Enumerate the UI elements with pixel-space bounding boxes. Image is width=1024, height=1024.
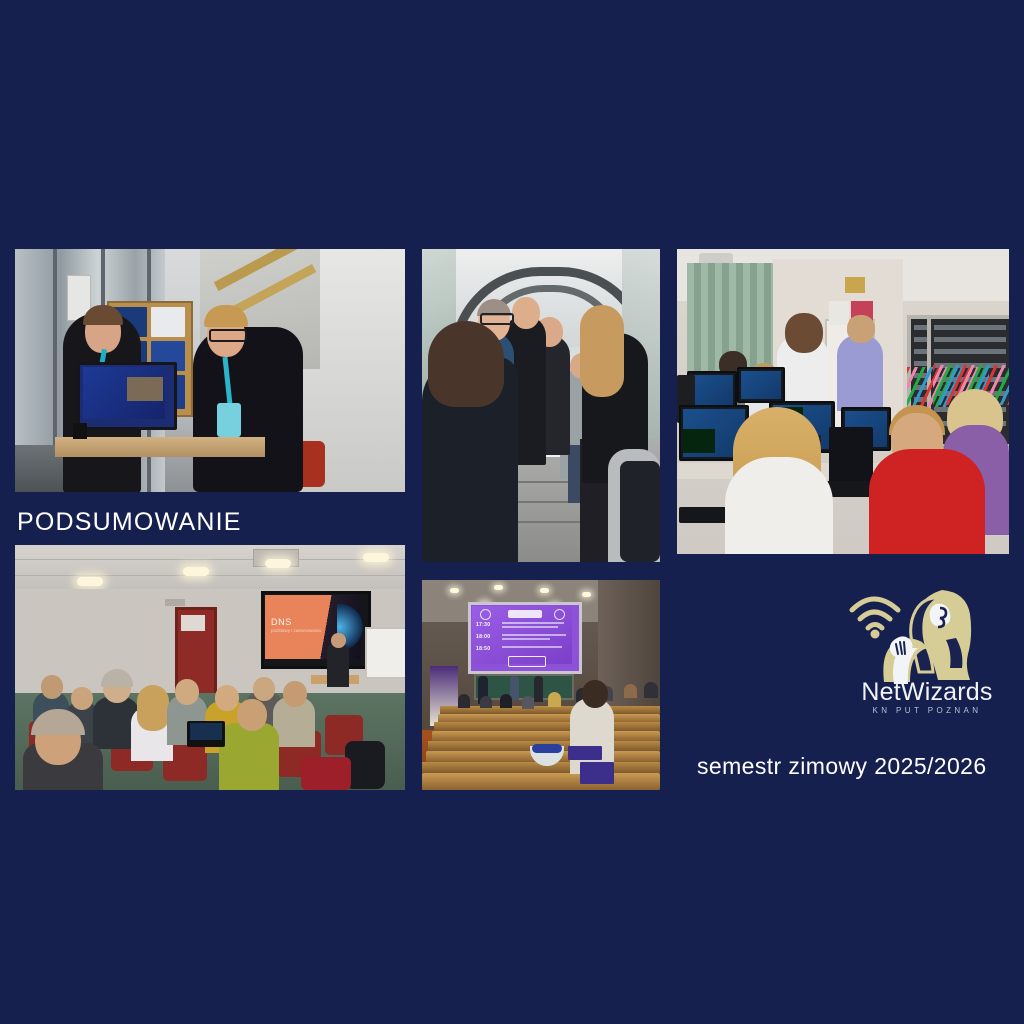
slide-subtitle: podstawy i zastosowania xyxy=(271,628,321,633)
photo-corridor-tour xyxy=(422,249,660,562)
poster-canvas: DNS podstawy i zastosowania xyxy=(0,0,1024,1024)
slide-time-3: 18:50 xyxy=(476,646,490,652)
netwizards-logo: NetWizards KN PUT POZNAN xyxy=(838,586,1016,722)
logo-name: NetWizards xyxy=(838,678,1016,707)
section-label-text: PODSUMOWANIE xyxy=(0,508,242,537)
logo-subtitle: KN PUT POZNAN xyxy=(838,706,1016,715)
photo-auditorium: 17:30 18:00 18:50 xyxy=(422,580,660,790)
semester-caption: semestr zimowy 2025/2026 xyxy=(697,753,987,780)
slide-title: DNS xyxy=(271,617,292,627)
slide-time-2: 18:00 xyxy=(476,634,490,640)
slide-time-1: 17:30 xyxy=(476,622,490,628)
photo-lecture-room: DNS podstawy i zastosowania xyxy=(15,545,405,790)
wizard-wifi-icon xyxy=(838,586,1016,684)
section-label-podsumowanie: PODSUMOWANIE xyxy=(0,502,250,543)
photo-students-stand xyxy=(15,249,405,492)
photo-network-lab xyxy=(677,249,1009,554)
